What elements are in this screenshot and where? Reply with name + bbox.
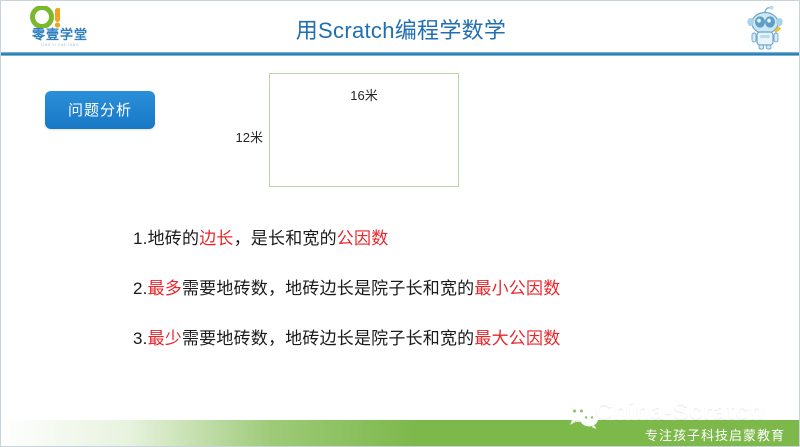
point-1-segment-3: ，是长和宽的 xyxy=(234,229,337,248)
point-2-segment-1: 2. xyxy=(133,279,148,298)
point-2-segment-4: 最小公因数 xyxy=(474,279,560,298)
footer-brand: China-Scratch 专注孩子科技启蒙教育 xyxy=(547,398,787,442)
header-divider xyxy=(1,52,800,56)
point-3-segment-3: 需要地砖数，地砖边长是院子长和宽的 xyxy=(182,329,474,348)
analysis-point-2: 2.最多需要地砖数，地砖边长是院子长和宽的最小公因数 xyxy=(133,279,773,299)
yard-diagram: 16米 12米 xyxy=(211,73,461,198)
point-2-segment-3: 需要地砖数，地砖边长是院子长和宽的 xyxy=(182,279,474,298)
brand-tagline: 专注孩子科技启蒙教育 xyxy=(645,425,785,444)
yard-height-label: 12米 xyxy=(211,127,263,146)
point-1-segment-4: 公因数 xyxy=(337,229,389,248)
page-title: 用Scratch编程学数学 xyxy=(1,13,800,45)
yard-width-label: 16米 xyxy=(269,85,459,104)
slide-header: 零壹学堂 LING YI XUE TANG 用Scratch编程学数学 xyxy=(1,1,800,56)
problem-analysis-button[interactable]: 问题分析 xyxy=(45,91,155,129)
brand-name: China-Scratch xyxy=(595,398,764,426)
point-3-segment-1: 3. xyxy=(133,329,148,348)
point-1-segment-2: 边长 xyxy=(199,229,233,248)
analysis-points-list: 1.地砖的边长，是长和宽的公因数 2.最多需要地砖数，地砖边长是院子长和宽的最小… xyxy=(133,229,773,379)
point-3-segment-4: 最大公因数 xyxy=(474,329,560,348)
robot-mascot-icon xyxy=(741,3,789,51)
analysis-point-3: 3.最少需要地砖数，地砖边长是院子长和宽的最大公因数 xyxy=(133,329,773,349)
slide-canvas: 零壹学堂 LING YI XUE TANG 用Scratch编程学数学 问题分析 xyxy=(0,0,800,447)
point-1-segment-1: 1.地砖的 xyxy=(133,229,199,248)
analysis-point-1: 1.地砖的边长，是长和宽的公因数 xyxy=(133,229,773,249)
wechat-icon xyxy=(565,402,599,430)
point-3-segment-2: 最少 xyxy=(148,329,182,348)
point-2-segment-2: 最多 xyxy=(148,279,182,298)
